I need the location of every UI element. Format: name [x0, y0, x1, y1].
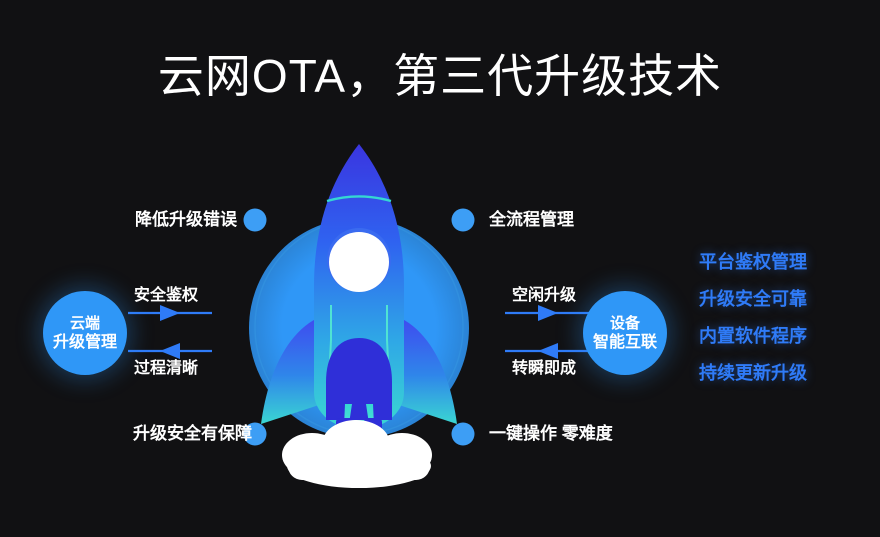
- label-secure-upgrade-guarantee: 升级安全有保障: [133, 423, 252, 445]
- node-device-interconnect[interactable]: 设备 智能互联: [583, 291, 667, 375]
- node-cloud-line1: 云端: [70, 314, 100, 333]
- rocket-window: [329, 232, 389, 292]
- label-reduce-upgrade-errors: 降低升级错误: [135, 209, 237, 231]
- label-one-click-zero-difficulty: 一键操作 零难度: [489, 423, 613, 445]
- caption-idle-upgrade: 空闲升级: [512, 286, 576, 306]
- node-device-line1: 设备: [610, 314, 640, 333]
- feature-item-1: 升级安全可靠: [699, 281, 807, 318]
- caption-instant-completion: 转瞬即成: [512, 359, 576, 379]
- caption-secure-authentication: 安全鉴权: [134, 286, 198, 306]
- feature-item-3: 持续更新升级: [699, 355, 807, 392]
- rocket-engine-bell: [326, 338, 392, 420]
- node-cloud-upgrade-management[interactable]: 云端 升级管理: [43, 291, 127, 375]
- node-cloud-line2: 升级管理: [53, 333, 117, 353]
- launch-cloud: [282, 420, 432, 488]
- orbit-dot-top-left: [244, 209, 267, 232]
- arrow-right-inbound: [505, 343, 590, 359]
- feature-item-0: 平台鉴权管理: [699, 244, 807, 281]
- feature-list: 平台鉴权管理 升级安全可靠 内置软件程序 持续更新升级: [699, 244, 807, 392]
- arrow-left-inbound: [128, 343, 212, 359]
- node-device-line2: 智能互联: [593, 333, 657, 353]
- orbit-dot-top-right: [452, 209, 475, 232]
- arrow-right-outbound: [505, 305, 590, 321]
- feature-item-2: 内置软件程序: [699, 318, 807, 355]
- caption-clear-process: 过程清晰: [134, 359, 198, 379]
- orbit-dot-bottom-right: [452, 423, 475, 446]
- infographic-canvas: 云网OTA，第三代升级技术: [0, 0, 880, 537]
- arrow-left-outbound: [128, 305, 212, 321]
- label-full-process-management: 全流程管理: [489, 209, 574, 231]
